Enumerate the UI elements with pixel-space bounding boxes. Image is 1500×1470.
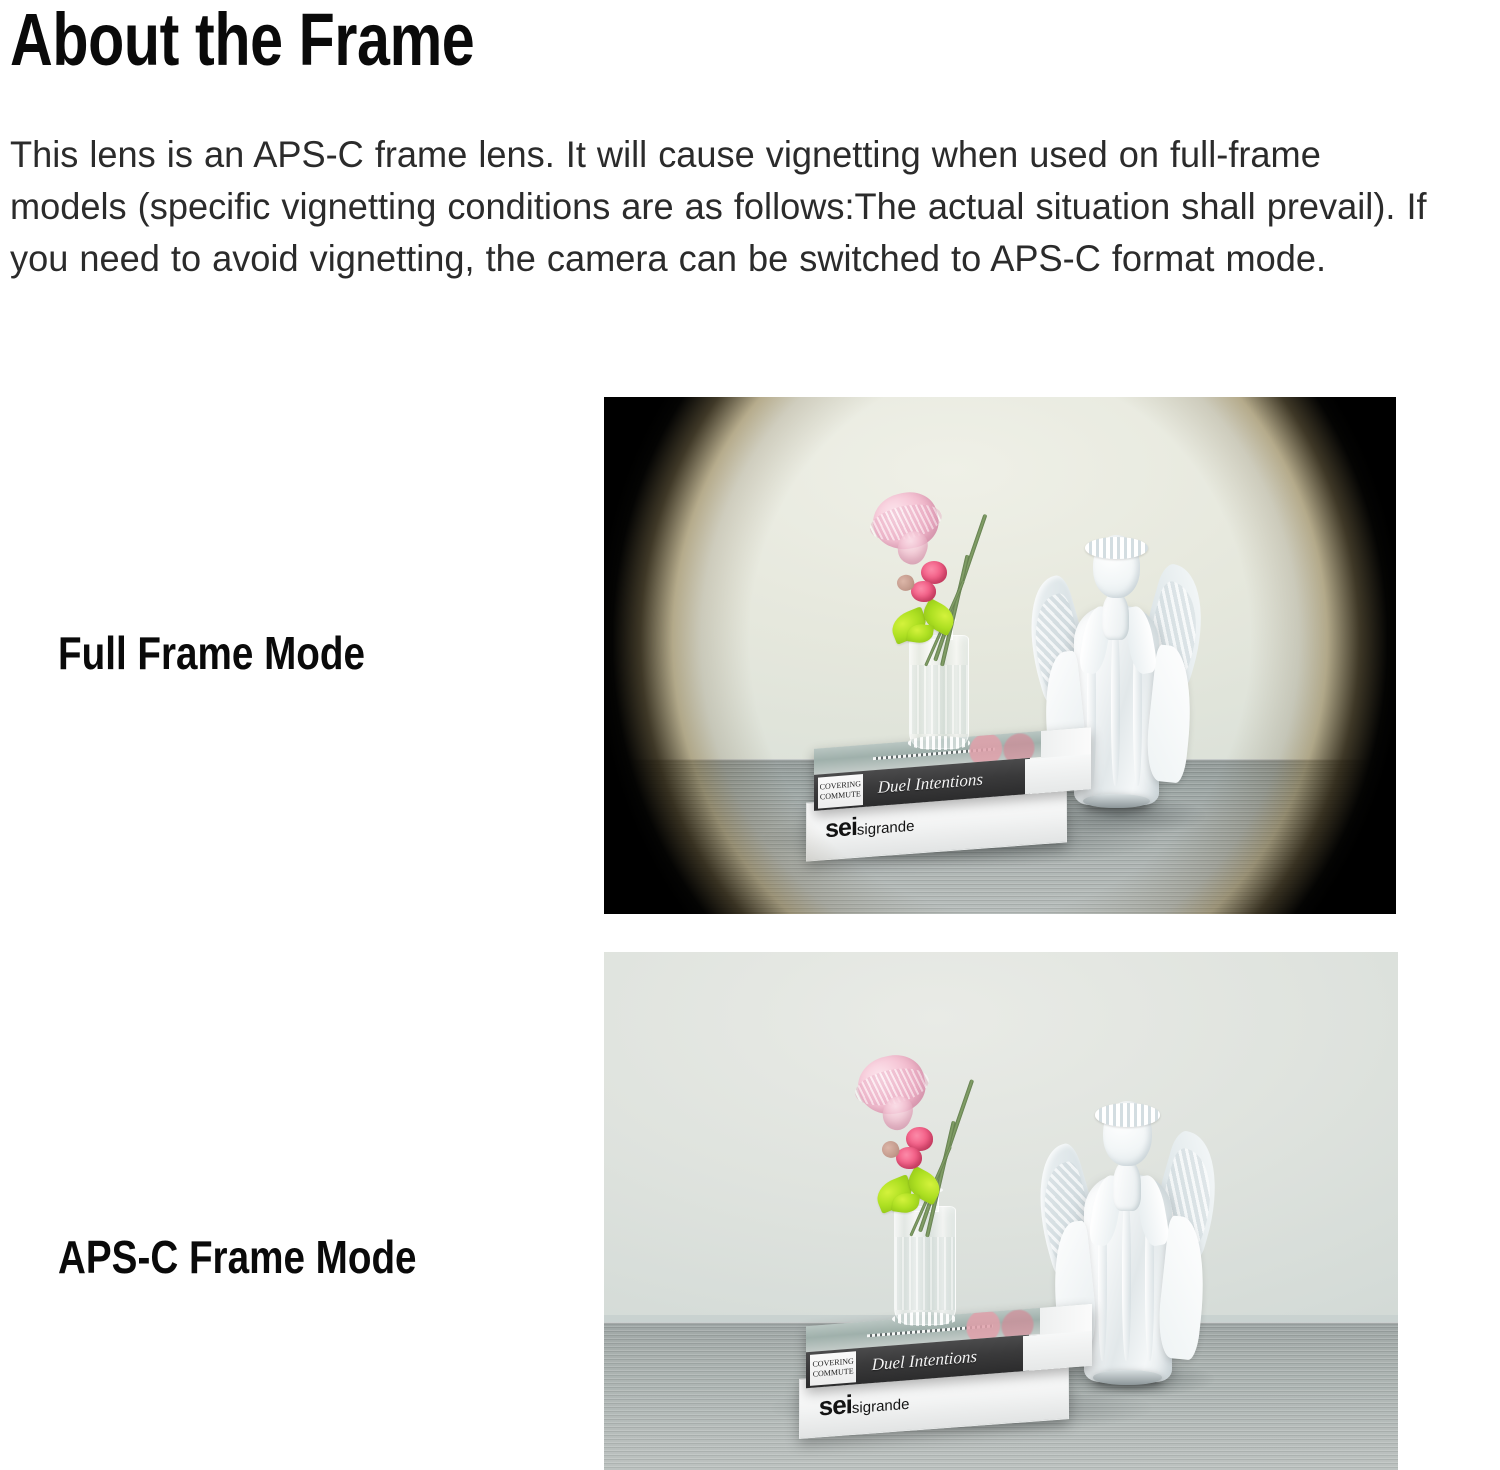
apsc-frame-sample-photo: seisigrande COVERING COMMUTE Duel Intent… (604, 952, 1398, 1470)
vase-beaded-base (908, 736, 971, 749)
description-paragraph: This lens is an APS-C frame lens. It wil… (10, 128, 1445, 284)
top-book-spine-tag: COVERING COMMUTE (818, 774, 862, 809)
bottom-book-brand: seisigrande (825, 810, 914, 842)
top-book-spine-tag: COVERING COMMUTE (811, 1351, 857, 1386)
angel-base (1093, 1370, 1161, 1385)
brand-suffix: sigrande (857, 817, 915, 838)
top-book-page-block (1025, 755, 1092, 795)
bottom-book-brand: seisigrande (818, 1387, 909, 1420)
page-title: About the Frame (10, 0, 474, 83)
still-life-scene: seisigrande COVERING COMMUTE Duel Intent… (604, 952, 1398, 1470)
full-frame-mode-label: Full Frame Mode (58, 626, 365, 680)
gown-fold (1111, 622, 1120, 785)
infographic-page: About the Frame This lens is an APS-C fr… (0, 0, 1500, 1470)
brand-main: sei (825, 812, 857, 842)
apsc-frame-mode-label: APS-C Frame Mode (58, 1230, 417, 1284)
magenta-rose (911, 581, 936, 602)
angel-praying-hands (1102, 592, 1129, 640)
still-life-scene: seisigrande COVERING COMMUTE Duel Intent… (604, 397, 1396, 914)
brand-main: sei (818, 1389, 851, 1421)
full-frame-sample-photo: seisigrande COVERING COMMUTE Duel Intent… (604, 397, 1396, 914)
spine-tag-line2: COMMUTE (820, 789, 861, 802)
angel-praying-hands (1113, 1160, 1141, 1210)
brand-suffix: sigrande (851, 1396, 909, 1417)
gown-fold (1122, 1192, 1131, 1361)
vase-cut-glass-texture (910, 665, 968, 734)
magenta-rose (896, 1147, 921, 1169)
vase-cut-glass-texture (895, 1237, 955, 1310)
angel-flower-crown (1095, 1103, 1160, 1127)
top-book-page-block (1024, 1331, 1093, 1371)
